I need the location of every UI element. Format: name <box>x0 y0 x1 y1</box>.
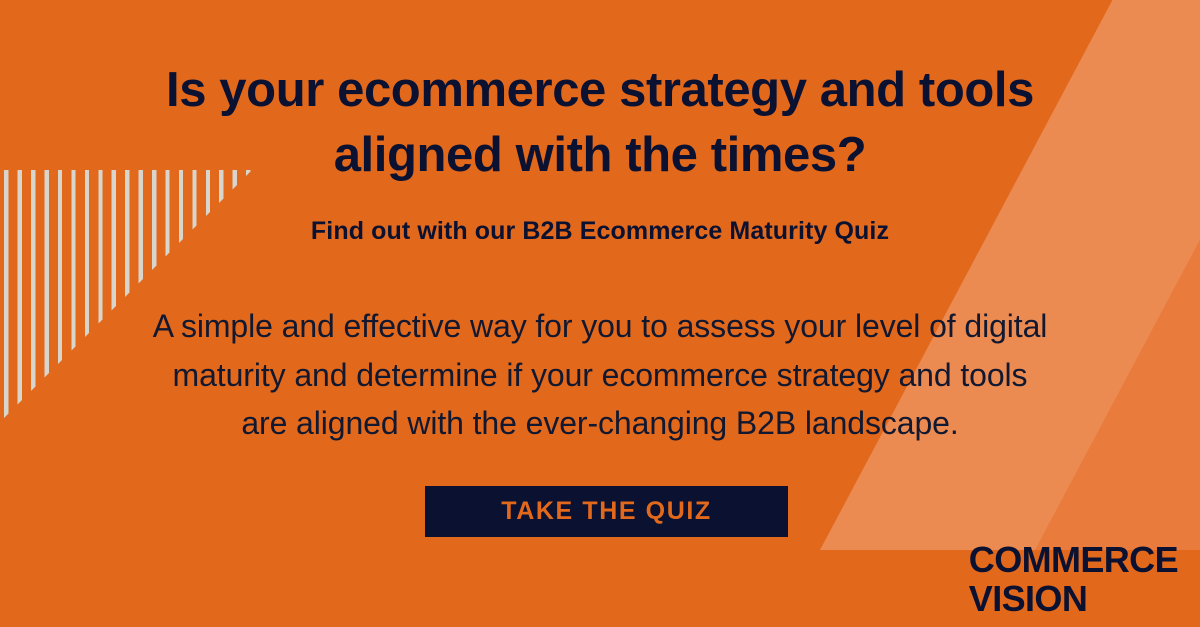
banner-content: Is your ecommerce strategy and tools ali… <box>0 0 1200 627</box>
take-the-quiz-button[interactable]: TAKE THE QUIZ <box>425 486 788 537</box>
cta-container: TAKE THE QUIZ <box>425 486 788 537</box>
body-description: A simple and effective way for you to as… <box>0 302 1200 448</box>
commerce-vision-logo: COMMERCE VISION <box>969 541 1178 619</box>
body-line-2: maturity and determine if your ecommerce… <box>173 357 1028 393</box>
page-title: Is your ecommerce strategy and tools ali… <box>0 58 1200 188</box>
logo-line-vision: VISION <box>969 580 1178 619</box>
page-subtitle: Find out with our B2B Ecommerce Maturity… <box>0 215 1200 248</box>
headline-line-1: Is your ecommerce strategy and tools <box>166 63 1034 117</box>
promo-banner: Is your ecommerce strategy and tools ali… <box>0 0 1200 627</box>
body-line-3: are aligned with the ever-changing B2B l… <box>241 405 958 441</box>
headline-line-2: aligned with the times? <box>334 128 867 182</box>
body-line-1: A simple and effective way for you to as… <box>153 308 1048 344</box>
logo-line-commerce: COMMERCE <box>969 541 1178 580</box>
